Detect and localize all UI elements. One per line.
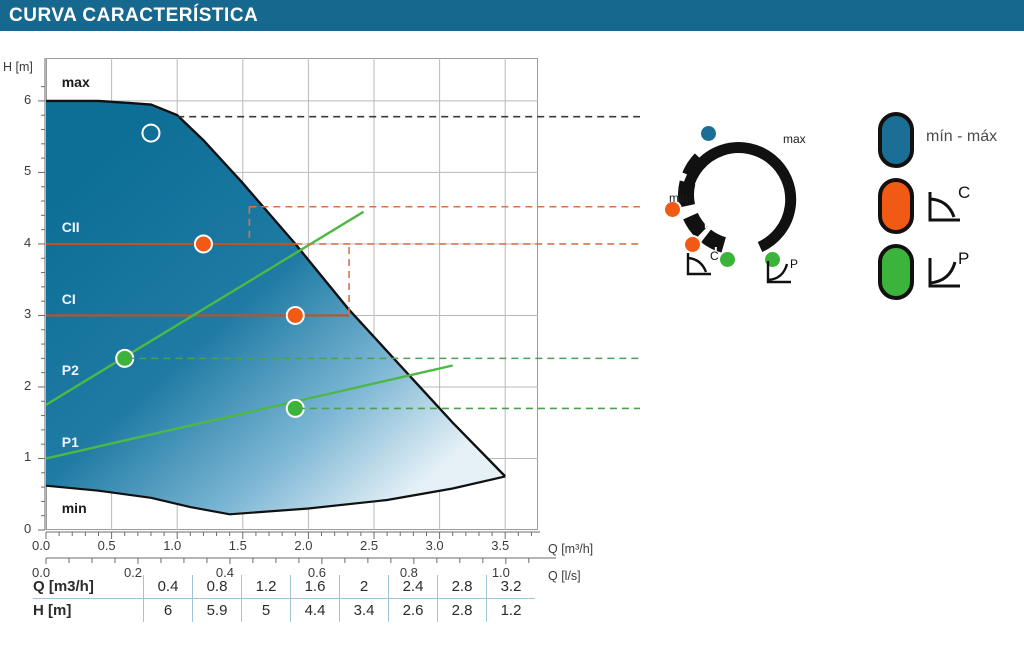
dial-dot-minmax[interactable]	[699, 124, 718, 143]
table-row: H [m]65.954.43.42.62.81.2	[33, 599, 535, 623]
legend-item-2: P	[872, 244, 1022, 300]
table-cell: 5	[242, 599, 291, 623]
y-tick: 1	[24, 449, 31, 464]
constant-pressure-icon: C	[685, 250, 725, 284]
x-tick-primary: 3.5	[491, 538, 509, 553]
table-cell: 2	[340, 575, 389, 599]
x-tick-primary: 3.0	[426, 538, 444, 553]
table-cell: 2.6	[389, 599, 438, 623]
table-cell: 4.4	[291, 599, 340, 623]
y-tick: 6	[24, 92, 31, 107]
data-table: Q [m3/h]0.40.81.21.622.42.83.2H [m]65.95…	[33, 575, 535, 622]
constant-icon-superscript: C	[710, 250, 719, 263]
band-label-ci: CI	[62, 291, 76, 307]
curve-graphics	[46, 58, 538, 530]
table-cell: 3.4	[340, 599, 389, 623]
x-axis-primary-title: Q [m³/h]	[548, 542, 593, 556]
band-label-min: min	[62, 500, 87, 516]
y-tick: 5	[24, 163, 31, 178]
table-cell: 2.8	[438, 575, 487, 599]
x-tick-primary: 2.0	[294, 538, 312, 553]
y-axis-title: H [m]	[3, 60, 33, 74]
x-axis-secondary-title: Q [l/s]	[548, 569, 581, 583]
band-label-cii: CII	[62, 219, 80, 235]
table-cell: 0.4	[144, 575, 193, 599]
legend-label-0: mín - máx	[926, 128, 997, 146]
table-cell: 5.9	[193, 599, 242, 623]
table-cell: 3.2	[487, 575, 536, 599]
band-label-p1: P1	[62, 434, 79, 450]
legend-pill-0	[878, 112, 914, 168]
table-row-header: Q [m3/h]	[33, 575, 144, 599]
x-tick-primary: 0.5	[98, 538, 116, 553]
plot-area: maxCIICIP2P1min	[46, 58, 538, 530]
table-cell: 1.2	[242, 575, 291, 599]
y-tick: 3	[24, 306, 31, 321]
y-tick: 2	[24, 378, 31, 393]
dial-segment-II[interactable]: II	[704, 216, 711, 231]
proportional-pressure-icon: P	[924, 250, 976, 296]
constant-pressure-icon: C	[924, 184, 976, 230]
x-tick-primary: 1.5	[229, 538, 247, 553]
band-label-p2: P2	[62, 362, 79, 378]
proportional-pressure-icon: P	[765, 258, 805, 292]
legend-superscript-1: C	[958, 184, 970, 202]
dial-label-min: min	[669, 191, 688, 205]
table-cell: 2.4	[389, 575, 438, 599]
dial-segment-2[interactable]: 2	[738, 258, 745, 273]
table-cell: 2.8	[438, 599, 487, 623]
table-cell: 6	[144, 599, 193, 623]
legend-item-1: C	[872, 178, 1022, 234]
y-tick: 0	[24, 521, 31, 536]
y-tick: 4	[24, 235, 31, 250]
table-cell: 1.2	[487, 599, 536, 623]
mode-selector-dial[interactable]: III21 max min C P	[655, 112, 820, 292]
legend-pill-2	[878, 244, 914, 300]
legend-superscript-2: P	[958, 250, 969, 268]
x-tick-primary: 1.0	[163, 538, 181, 553]
table-row: Q [m3/h]0.40.81.21.622.42.83.2	[33, 575, 535, 599]
band-label-max: max	[62, 74, 90, 90]
legend: mín - máxCP	[872, 112, 1022, 302]
x-tick-primary: 0.0	[32, 538, 50, 553]
x-tick-primary: 2.5	[360, 538, 378, 553]
dial-label-max: max	[783, 132, 806, 146]
legend-item-0: mín - máx	[872, 112, 1022, 168]
page-header: CURVA CARACTERÍSTICA	[0, 0, 1024, 31]
proportional-icon-superscript: P	[790, 258, 798, 271]
table-cell: 1.6	[291, 575, 340, 599]
characteristic-curve-chart: H [m]	[0, 34, 640, 564]
page-title: CURVA CARACTERÍSTICA	[9, 5, 258, 27]
table-row-header: H [m]	[33, 599, 144, 623]
legend-pill-1	[878, 178, 914, 234]
table-cell: 0.8	[193, 575, 242, 599]
